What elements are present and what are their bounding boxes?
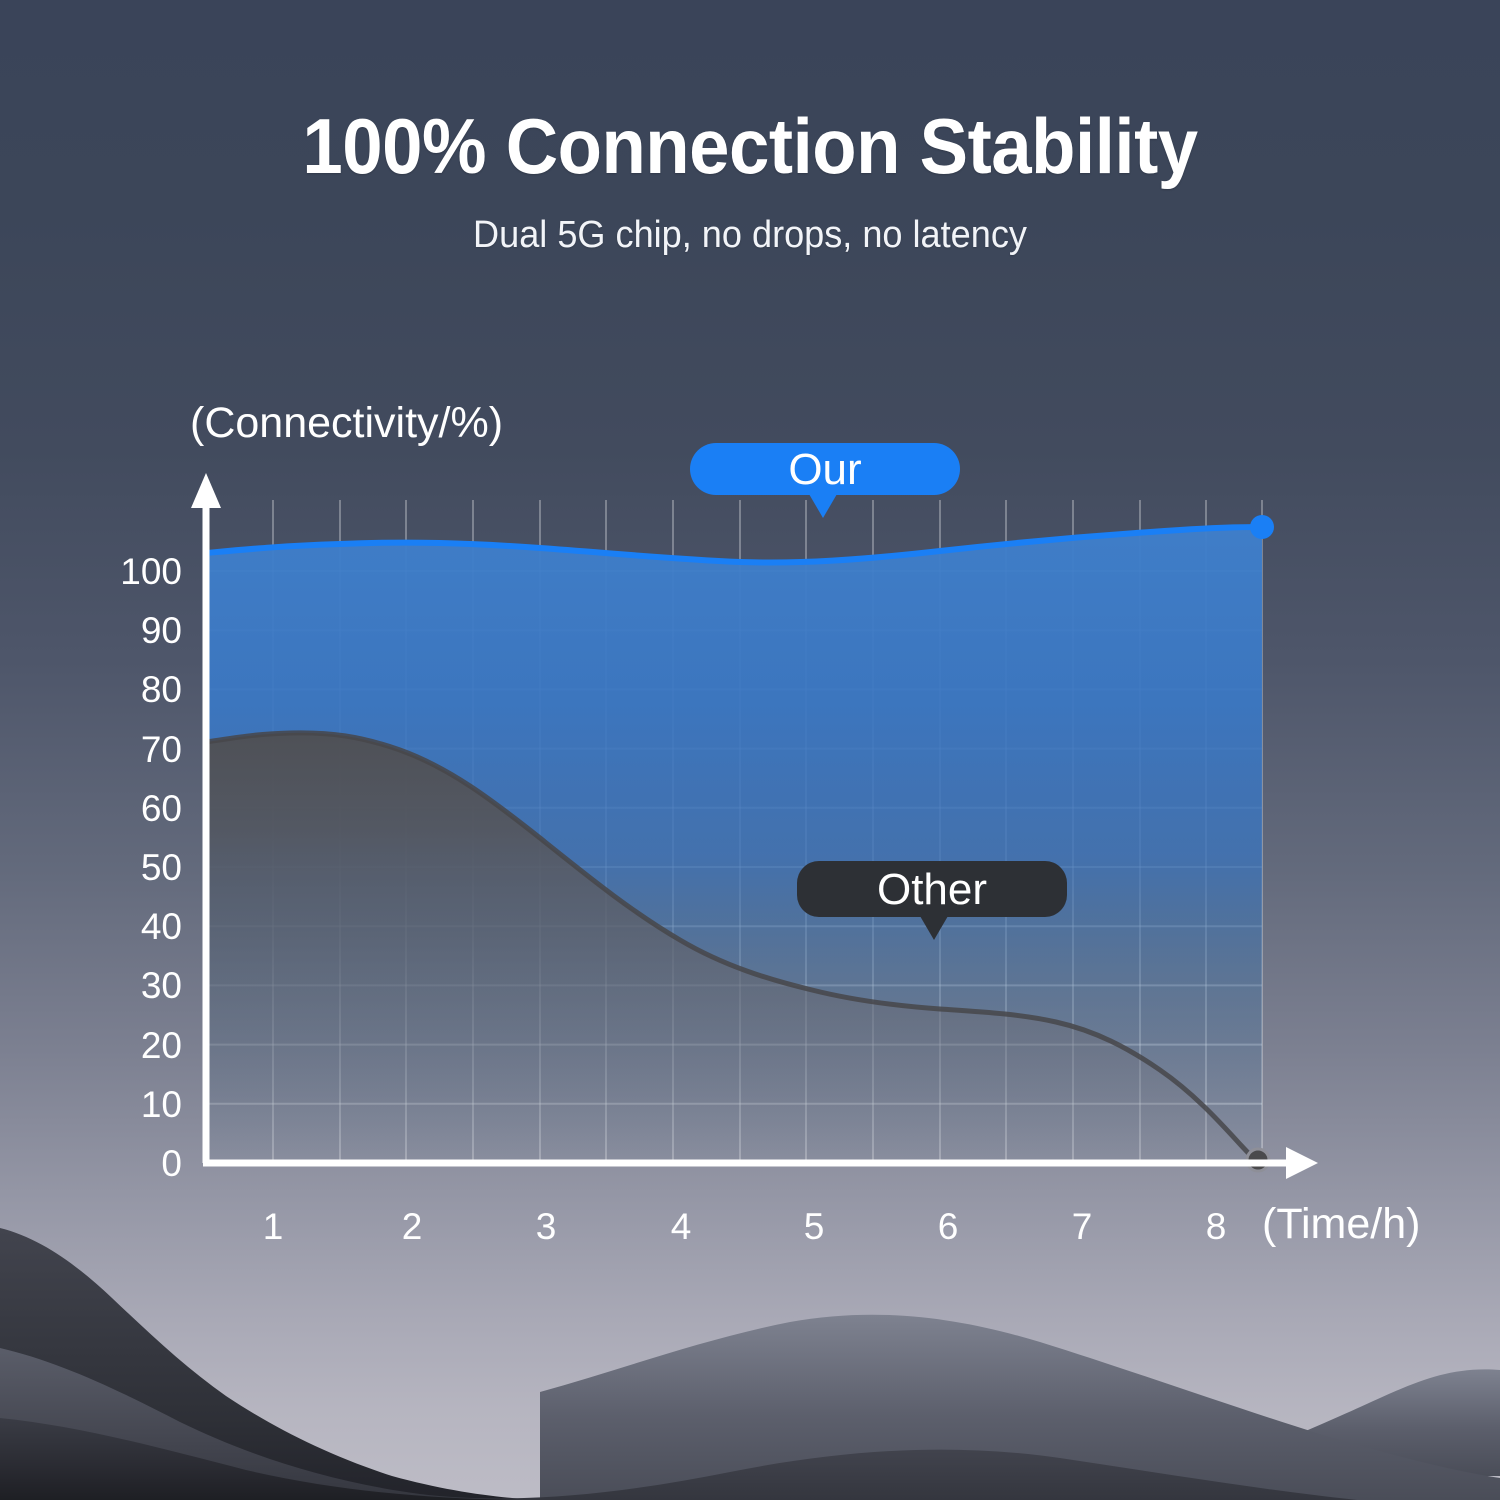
x-tick-label: 3 xyxy=(536,1206,557,1247)
y-tick-label: 80 xyxy=(141,669,182,710)
x-axis-arrowhead xyxy=(1286,1147,1318,1179)
legend-badge-our[interactable]: Our xyxy=(690,443,960,518)
x-tick-label: 2 xyxy=(402,1206,423,1247)
y-tick-label: 100 xyxy=(120,551,182,592)
x-tick-label: 8 xyxy=(1206,1206,1227,1247)
y-tick-label: 90 xyxy=(141,610,182,651)
x-tick-label: 6 xyxy=(938,1206,959,1247)
x-tick-label: 1 xyxy=(263,1206,284,1247)
y-tick-label: 60 xyxy=(141,788,182,829)
x-tick-label: 7 xyxy=(1072,1206,1093,1247)
x-tick-label: 4 xyxy=(671,1206,692,1247)
connectivity-chart: (Connectivity/%) (Time/h) 100 90 80 70 6… xyxy=(0,0,1500,1500)
infographic-canvas: 100% Connection Stability Dual 5G chip, … xyxy=(0,0,1500,1500)
y-axis-title: (Connectivity/%) xyxy=(190,399,503,447)
y-tick-label: 70 xyxy=(141,729,182,770)
legend-badge-our-pointer xyxy=(809,494,837,518)
y-tick-label: 0 xyxy=(161,1143,182,1184)
y-tick-label: 10 xyxy=(141,1084,182,1125)
y-tick-label: 40 xyxy=(141,906,182,947)
legend-badge-our-label: Our xyxy=(788,445,861,494)
series-our-endpoint-marker xyxy=(1250,515,1274,539)
x-axis-title: (Time/h) xyxy=(1262,1200,1420,1248)
y-axis-arrowhead xyxy=(191,473,221,508)
y-tick-labels: 100 90 80 70 60 50 40 30 20 10 0 xyxy=(120,551,182,1184)
y-tick-label: 20 xyxy=(141,1025,182,1066)
legend-badge-other-label: Other xyxy=(877,865,987,914)
y-tick-label: 50 xyxy=(141,847,182,888)
x-tick-label: 5 xyxy=(804,1206,825,1247)
x-tick-labels: 1 2 3 4 5 6 7 8 xyxy=(263,1206,1227,1247)
y-tick-label: 30 xyxy=(141,965,182,1006)
